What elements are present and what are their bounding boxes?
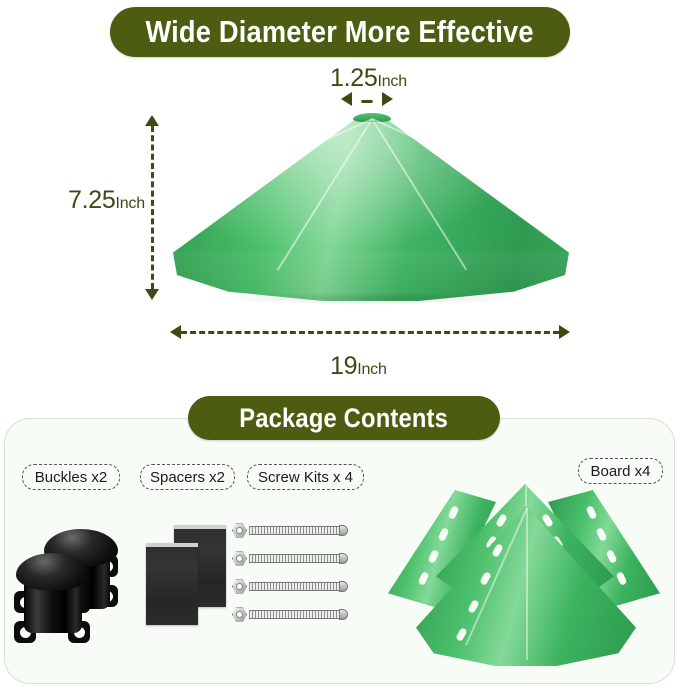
item-tag-spacers: Spacers x2 [140,464,235,490]
screw-unit [232,606,350,623]
screw-nut [232,551,247,566]
arrow-head-right-icon [559,325,570,339]
dimension-arrow-diameter-icon [170,325,570,339]
infographic-canvas: Wide Diameter More Effective 1.25Inch 7.… [0,0,679,691]
screw-nut [232,579,247,594]
dimension-label-diameter: 19Inch [330,352,387,381]
buckle-cap [16,553,90,591]
dimension-arrow-height-icon [145,115,159,300]
spacer-pad [146,543,198,625]
screw-shaft [249,554,341,563]
screw-nut-hole [236,527,243,534]
cone-shadow [213,292,530,305]
screw-nut [232,523,247,538]
banner-title-text: Wide Diameter More Effective [146,14,534,50]
screw-tip [339,581,348,592]
board-slot [448,505,460,520]
dimension-height-unit: Inch [115,195,144,212]
item-tag-buckles: Buckles x2 [22,464,120,490]
board-slot [467,599,480,614]
part-image-boards [388,484,663,669]
dimension-diameter-unit: Inch [357,361,386,378]
screw-unit [232,522,350,539]
dimension-label-height: 7.25Inch [68,186,145,215]
part-image-buckles [14,525,134,635]
item-tag-buckles-label: Buckles x2 [35,469,108,486]
arrow-head-left-icon [170,325,181,339]
product-image-cone-baffle [173,115,569,301]
part-image-screw-kits [232,522,364,626]
section-banner-package-contents: Package Contents [188,396,500,440]
board-slot [586,505,598,520]
board-slot [616,571,628,586]
screw-unit [232,550,350,567]
item-tag-screw-kits: Screw Kits x 4 [247,464,364,490]
dimension-label-width: 1.25Inch [330,64,407,93]
dimension-diameter-value: 19 [330,352,357,380]
arrow-head-right-icon [382,92,393,106]
board-slot [438,527,450,542]
screw-shaft [249,610,341,619]
item-tag-board-label: Board x4 [590,463,650,480]
board-seam [526,508,528,660]
screw-nut [232,607,247,622]
board-slot [479,571,492,586]
screw-unit [232,578,350,595]
screw-tip [339,609,348,620]
item-tag-screw-kits-label: Screw Kits x 4 [258,469,353,486]
board-slot [418,571,430,586]
package-banner-text: Package Contents [240,403,449,434]
screw-tip [339,525,348,536]
board-slot [491,543,504,558]
dimension-arrow-width-icon [341,92,393,106]
board-slot [428,549,440,564]
dimension-height-value: 7.25 [68,186,115,214]
arrow-head-up-icon [145,115,159,126]
screw-tip [339,553,348,564]
screw-shaft [249,582,341,591]
arrow-head-left-icon [341,92,352,106]
screw-shaft [249,526,341,535]
arrow-shaft [151,126,154,289]
screw-nut-hole [236,611,243,618]
arrow-shaft [181,331,559,334]
item-tag-spacers-label: Spacers x2 [150,469,225,486]
item-tag-board: Board x4 [578,458,663,484]
part-image-spacers [146,525,230,630]
board-slot [596,527,608,542]
board-slot [606,549,618,564]
screw-nut-hole [236,583,243,590]
dimension-width-unit: Inch [377,73,406,90]
dimension-width-value: 1.25 [330,64,377,92]
arrow-shaft [355,98,379,101]
board-slot [495,513,508,528]
section-banner-wide-diameter: Wide Diameter More Effective [110,7,570,57]
arrow-head-down-icon [145,289,159,300]
screw-nut-hole [236,555,243,562]
